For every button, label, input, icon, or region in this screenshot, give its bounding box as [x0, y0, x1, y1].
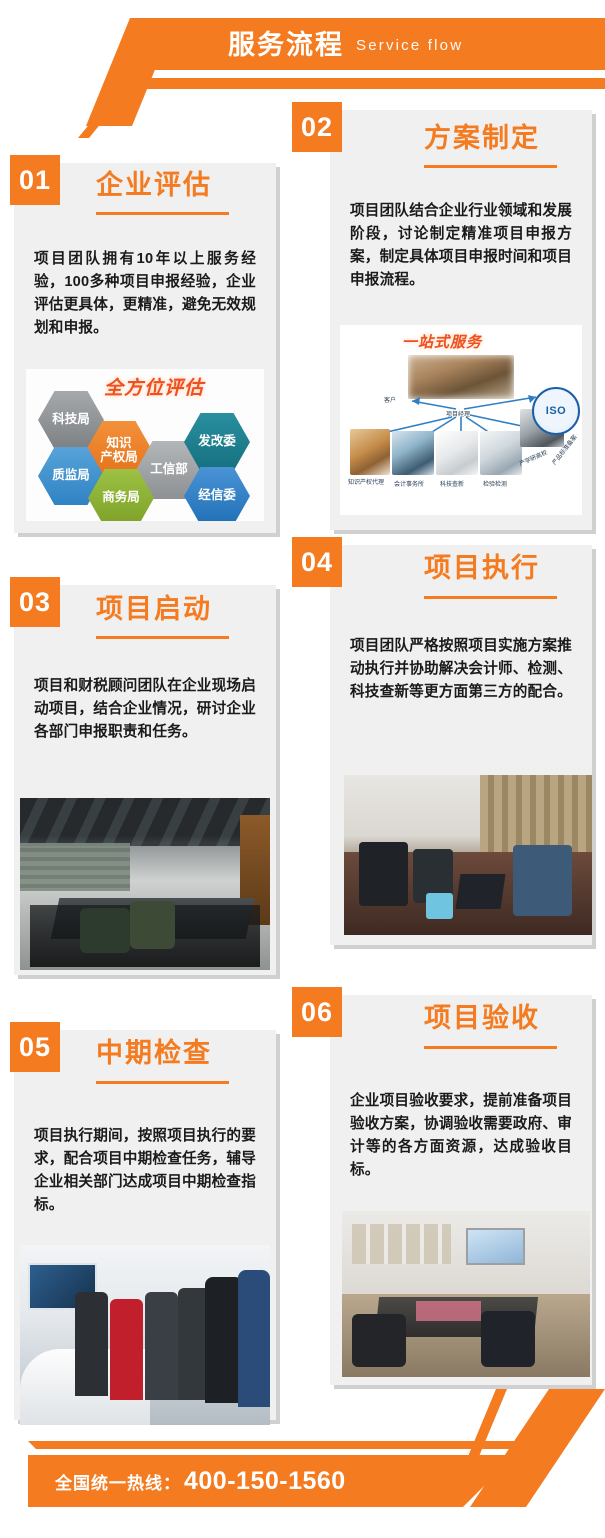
step-title-rule-03 [96, 636, 229, 639]
oss-thumb-testing [480, 431, 522, 475]
hexagon-node-label: 经信委 [198, 489, 236, 502]
step-title-04: 项目执行 [424, 555, 540, 582]
hexagon-diagram-title: 全方位评估 [104, 373, 204, 400]
hexagon-node-label: 科技局 [52, 413, 90, 426]
step-title-rule-01 [96, 212, 229, 215]
step-badge-01: 01 [10, 155, 60, 205]
step-title-02: 方案制定 [424, 125, 540, 152]
step-description-05: 项目执行期间，按照项目执行的要求，配合项目中期检查任务，辅导企业相关部门达成项目… [34, 1125, 256, 1217]
hexagon-node-label: 发改委 [198, 435, 236, 448]
oss-node-xiangmujingli: 项目经理 [446, 409, 470, 418]
conference-room-photo [20, 798, 270, 970]
oss-label-testing: 检验检测 [483, 479, 507, 488]
step-title-06: 项目验收 [424, 1005, 540, 1032]
step-card-01[interactable]: 项目团队拥有10年以上服务经验，100多种项目申报经验，企业评估更具体，更精准，… [14, 163, 276, 533]
step-card-06[interactable]: 企业项目验收要求，提前准备项目验收方案，协调验收需要政府、审计等的各方面资源，达… [330, 995, 592, 1385]
showroom-visit-photo [20, 1245, 270, 1425]
service-flow-poster: 服务流程 Service flow 项目团队拥有10年以上服务经验，100多种项… [0, 0, 605, 1538]
step-title-rule-06 [424, 1046, 557, 1049]
hexagon-node-label: 商务局 [102, 491, 140, 504]
header-underline [116, 78, 605, 89]
step-title-rule-04 [424, 596, 557, 599]
step-badge-02: 02 [292, 102, 342, 152]
step-description-04: 项目团队严格按照项目实施方案推动执行并协助解决会计师、检测、科技查新等更方面第三… [350, 635, 572, 704]
oss-thumb-search [436, 431, 478, 475]
step-card-05[interactable]: 项目执行期间，按照项目执行的要求，配合项目中期检查任务，辅导企业相关部门达成项目… [14, 1030, 276, 1420]
step-title-rule-02 [424, 165, 557, 168]
step-description-02: 项目团队结合企业行业领域和发展阶段，讨论制定精准项目申报方案，制定具体项目申报时… [350, 200, 572, 292]
poster-header: 服务流程 Service flow [0, 0, 605, 118]
step-title-rule-05 [96, 1081, 229, 1084]
step-description-01: 项目团队拥有10年以上服务经验，100多种项目申报经验，企业评估更具体，更精准，… [34, 248, 256, 340]
step-badge-05: 05 [10, 1022, 60, 1072]
oss-label-search: 科技查新 [440, 479, 464, 488]
oss-label-accounting: 会计事务所 [394, 479, 424, 488]
step-card-03[interactable]: 项目和财税顾问团队在企业现场启动项目，结合企业情况，研讨企业各部门申报职责和任务… [14, 585, 276, 975]
footer-hotline-label: 全国统一热线： [55, 1469, 181, 1494]
oss-thumb-accounting [392, 431, 434, 475]
page-title: 服务流程 [228, 32, 344, 59]
step-card-02[interactable]: 项目团队结合企业行业领域和发展阶段，讨论制定精准项目申报方案，制定具体项目申报时… [330, 110, 592, 530]
acceptance-meeting-photo [342, 1211, 590, 1377]
assessment-hexagon-diagram: 全方位评估 科技局 知识 产权局 质监局 工信部 商务局 发改委 经信委 [26, 369, 264, 521]
oss-thumb-ip [350, 429, 390, 475]
step-description-03: 项目和财税顾问团队在企业现场启动项目，结合企业情况，研讨企业各部门申报职责和任务… [34, 675, 256, 744]
oss-node-kehu: 客户 [384, 395, 396, 404]
step-title-03: 项目启动 [96, 596, 212, 623]
hexagon-node-label: 知识 产权局 [100, 436, 138, 464]
step-title-05: 中期检查 [96, 1040, 212, 1067]
step-badge-06: 06 [292, 987, 342, 1037]
hexagon-node-label: 质监局 [52, 469, 90, 482]
footer-hotline-number[interactable]: 400-150-1560 [184, 1467, 346, 1496]
step-title-01: 企业评估 [96, 172, 212, 199]
oss-iso-seal: ISO [532, 387, 580, 435]
step-badge-04: 04 [292, 537, 342, 587]
header-title-group: 服务流程 Service flow [228, 26, 463, 64]
meeting-laptops-photo [344, 775, 592, 935]
hexagon-node-label: 工信部 [150, 463, 188, 476]
footer-top-line [28, 1441, 515, 1449]
oss-label-ip: 知识产权代理 [348, 477, 384, 486]
step-card-04[interactable]: 项目团队严格按照项目实施方案推动执行并协助解决会计师、检测、科技查新等更方面第三… [330, 545, 592, 945]
oss-seal-label: ISO [546, 405, 566, 417]
step-badge-03: 03 [10, 577, 60, 627]
page-subtitle: Service flow [356, 38, 463, 53]
step-description-06: 企业项目验收要求，提前准备项目验收方案，协调验收需要政府、审计等的各方面资源，达… [350, 1090, 572, 1182]
footer-hotline-group[interactable]: 全国统一热线： 400-150-1560 [55, 1455, 346, 1507]
one-stop-service-diagram: 一站式服务 [340, 325, 582, 515]
